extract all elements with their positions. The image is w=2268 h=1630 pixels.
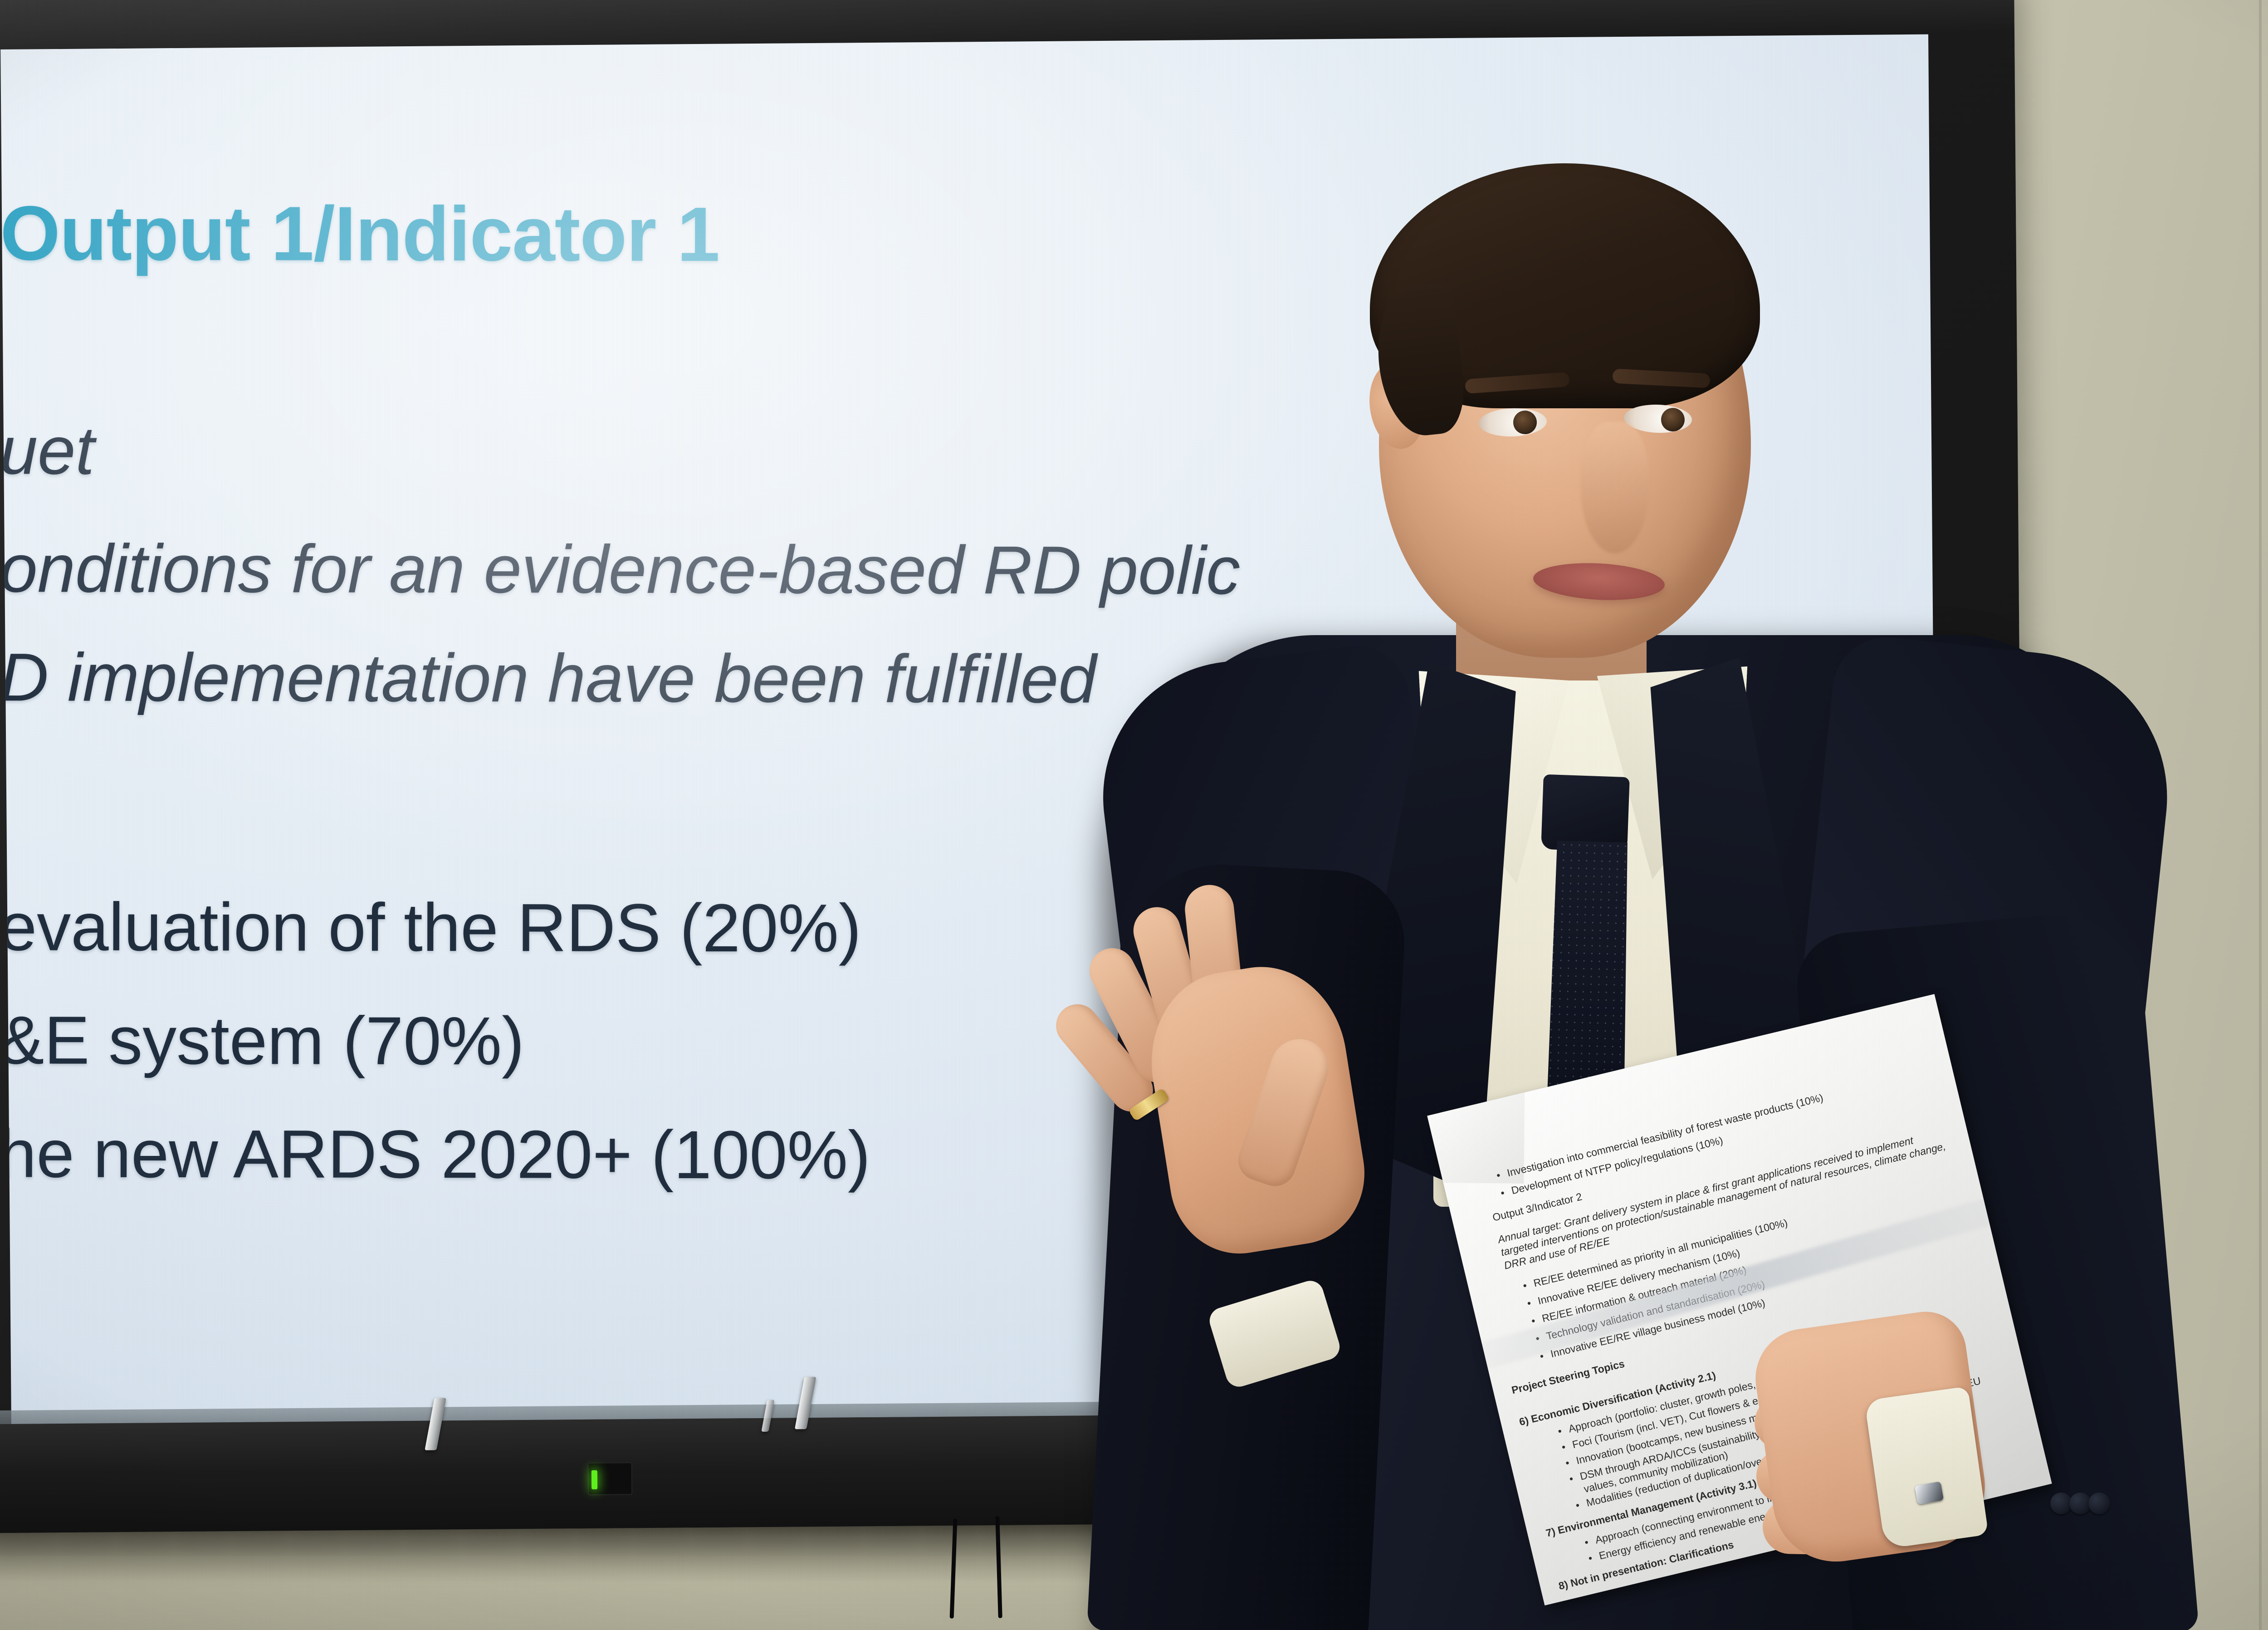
iris	[1513, 410, 1537, 435]
nose	[1581, 422, 1649, 553]
slide-line-me-system: &E system (70%)	[0, 1001, 524, 1080]
slide-line-implementation: D implementation have been fulfilled	[0, 638, 1096, 718]
slide-title: Output 1/Indicator 1	[0, 189, 719, 279]
slide-line-ards: he new ARDS 2020+ (100%)	[0, 1114, 870, 1194]
sleeve-buttons	[2050, 1493, 2132, 1516]
presenter: Investigation into commercial feasibilit…	[1080, 150, 2268, 1630]
tie-knot	[1541, 774, 1630, 852]
sleeve-button	[2088, 1493, 2110, 1514]
sleeve-button	[2069, 1493, 2091, 1514]
slide-line-evaluation: evaluation of the RDS (20%)	[0, 887, 861, 967]
shirt-cuff-right	[1864, 1386, 1989, 1549]
sleeve-button	[2050, 1493, 2072, 1514]
slide-line-target: uet	[0, 411, 94, 489]
power-led-indicator	[591, 1470, 597, 1489]
slide-line-conditions: onditions for an evidence-based RD polic	[0, 529, 1240, 610]
photograph-scene: Output 1/Indicator 1 uet onditions for a…	[0, 0, 2268, 1630]
iris	[1661, 407, 1685, 432]
